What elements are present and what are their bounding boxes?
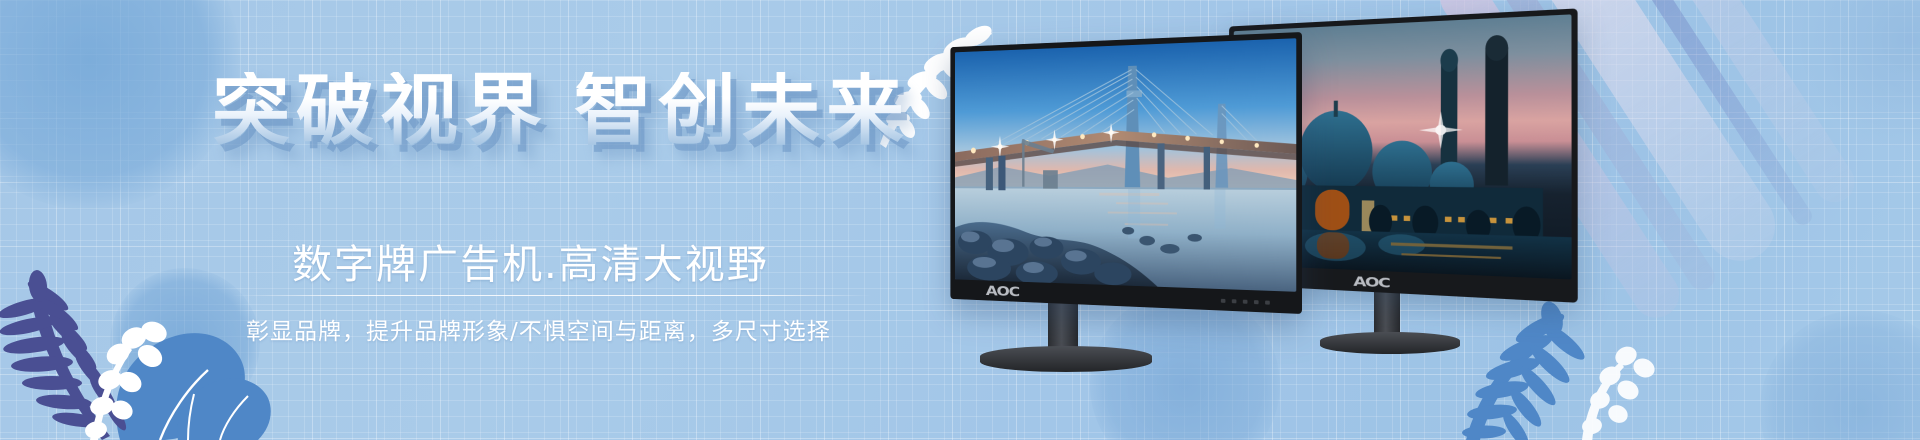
ribbon-stripe <box>1611 0 1862 210</box>
monitor-control-leds <box>1221 299 1270 305</box>
monitor-stand-base <box>1320 332 1460 354</box>
bridge-scene-graphic <box>955 38 1296 292</box>
divider-rule <box>232 295 872 296</box>
led-indicator <box>1254 300 1259 304</box>
glow-blob-top-right <box>1800 0 1920 150</box>
glow-blob-right <box>1760 310 1920 440</box>
led-indicator <box>1243 300 1248 304</box>
product-monitor-front: AOC <box>880 28 1310 376</box>
page-title: 突破视界智创未来 <box>212 72 910 150</box>
brand-logo-aoc: AOC <box>1353 274 1389 291</box>
monitor-screen <box>955 38 1296 292</box>
led-indicator <box>1221 299 1226 303</box>
headline-part-2: 智创未来 <box>574 66 910 156</box>
headline-part-1: 突破视界 <box>212 66 548 156</box>
promo-banner: 突破视界智创未来 数字牌广告机.高清大视野 彰显品牌，提升品牌形象/不惧空间与距… <box>0 0 1920 440</box>
brand-logo-aoc: AOC <box>986 284 1019 300</box>
monitor-stand-base <box>980 346 1152 372</box>
ribbon-stripe <box>1582 0 1815 228</box>
monitor-bezel: AOC <box>950 32 1302 314</box>
subtitle: 数字牌广告机.高清大视野 <box>292 232 769 290</box>
copy-block: 突破视界智创未来 数字牌广告机.高清大视野 彰显品牌，提升品牌形象/不惧空间与距… <box>0 0 900 440</box>
led-indicator <box>1232 299 1237 303</box>
led-indicator <box>1265 301 1270 305</box>
tagline: 彰显品牌，提升品牌形象/不惧空间与距离，多尺寸选择 <box>246 312 831 346</box>
